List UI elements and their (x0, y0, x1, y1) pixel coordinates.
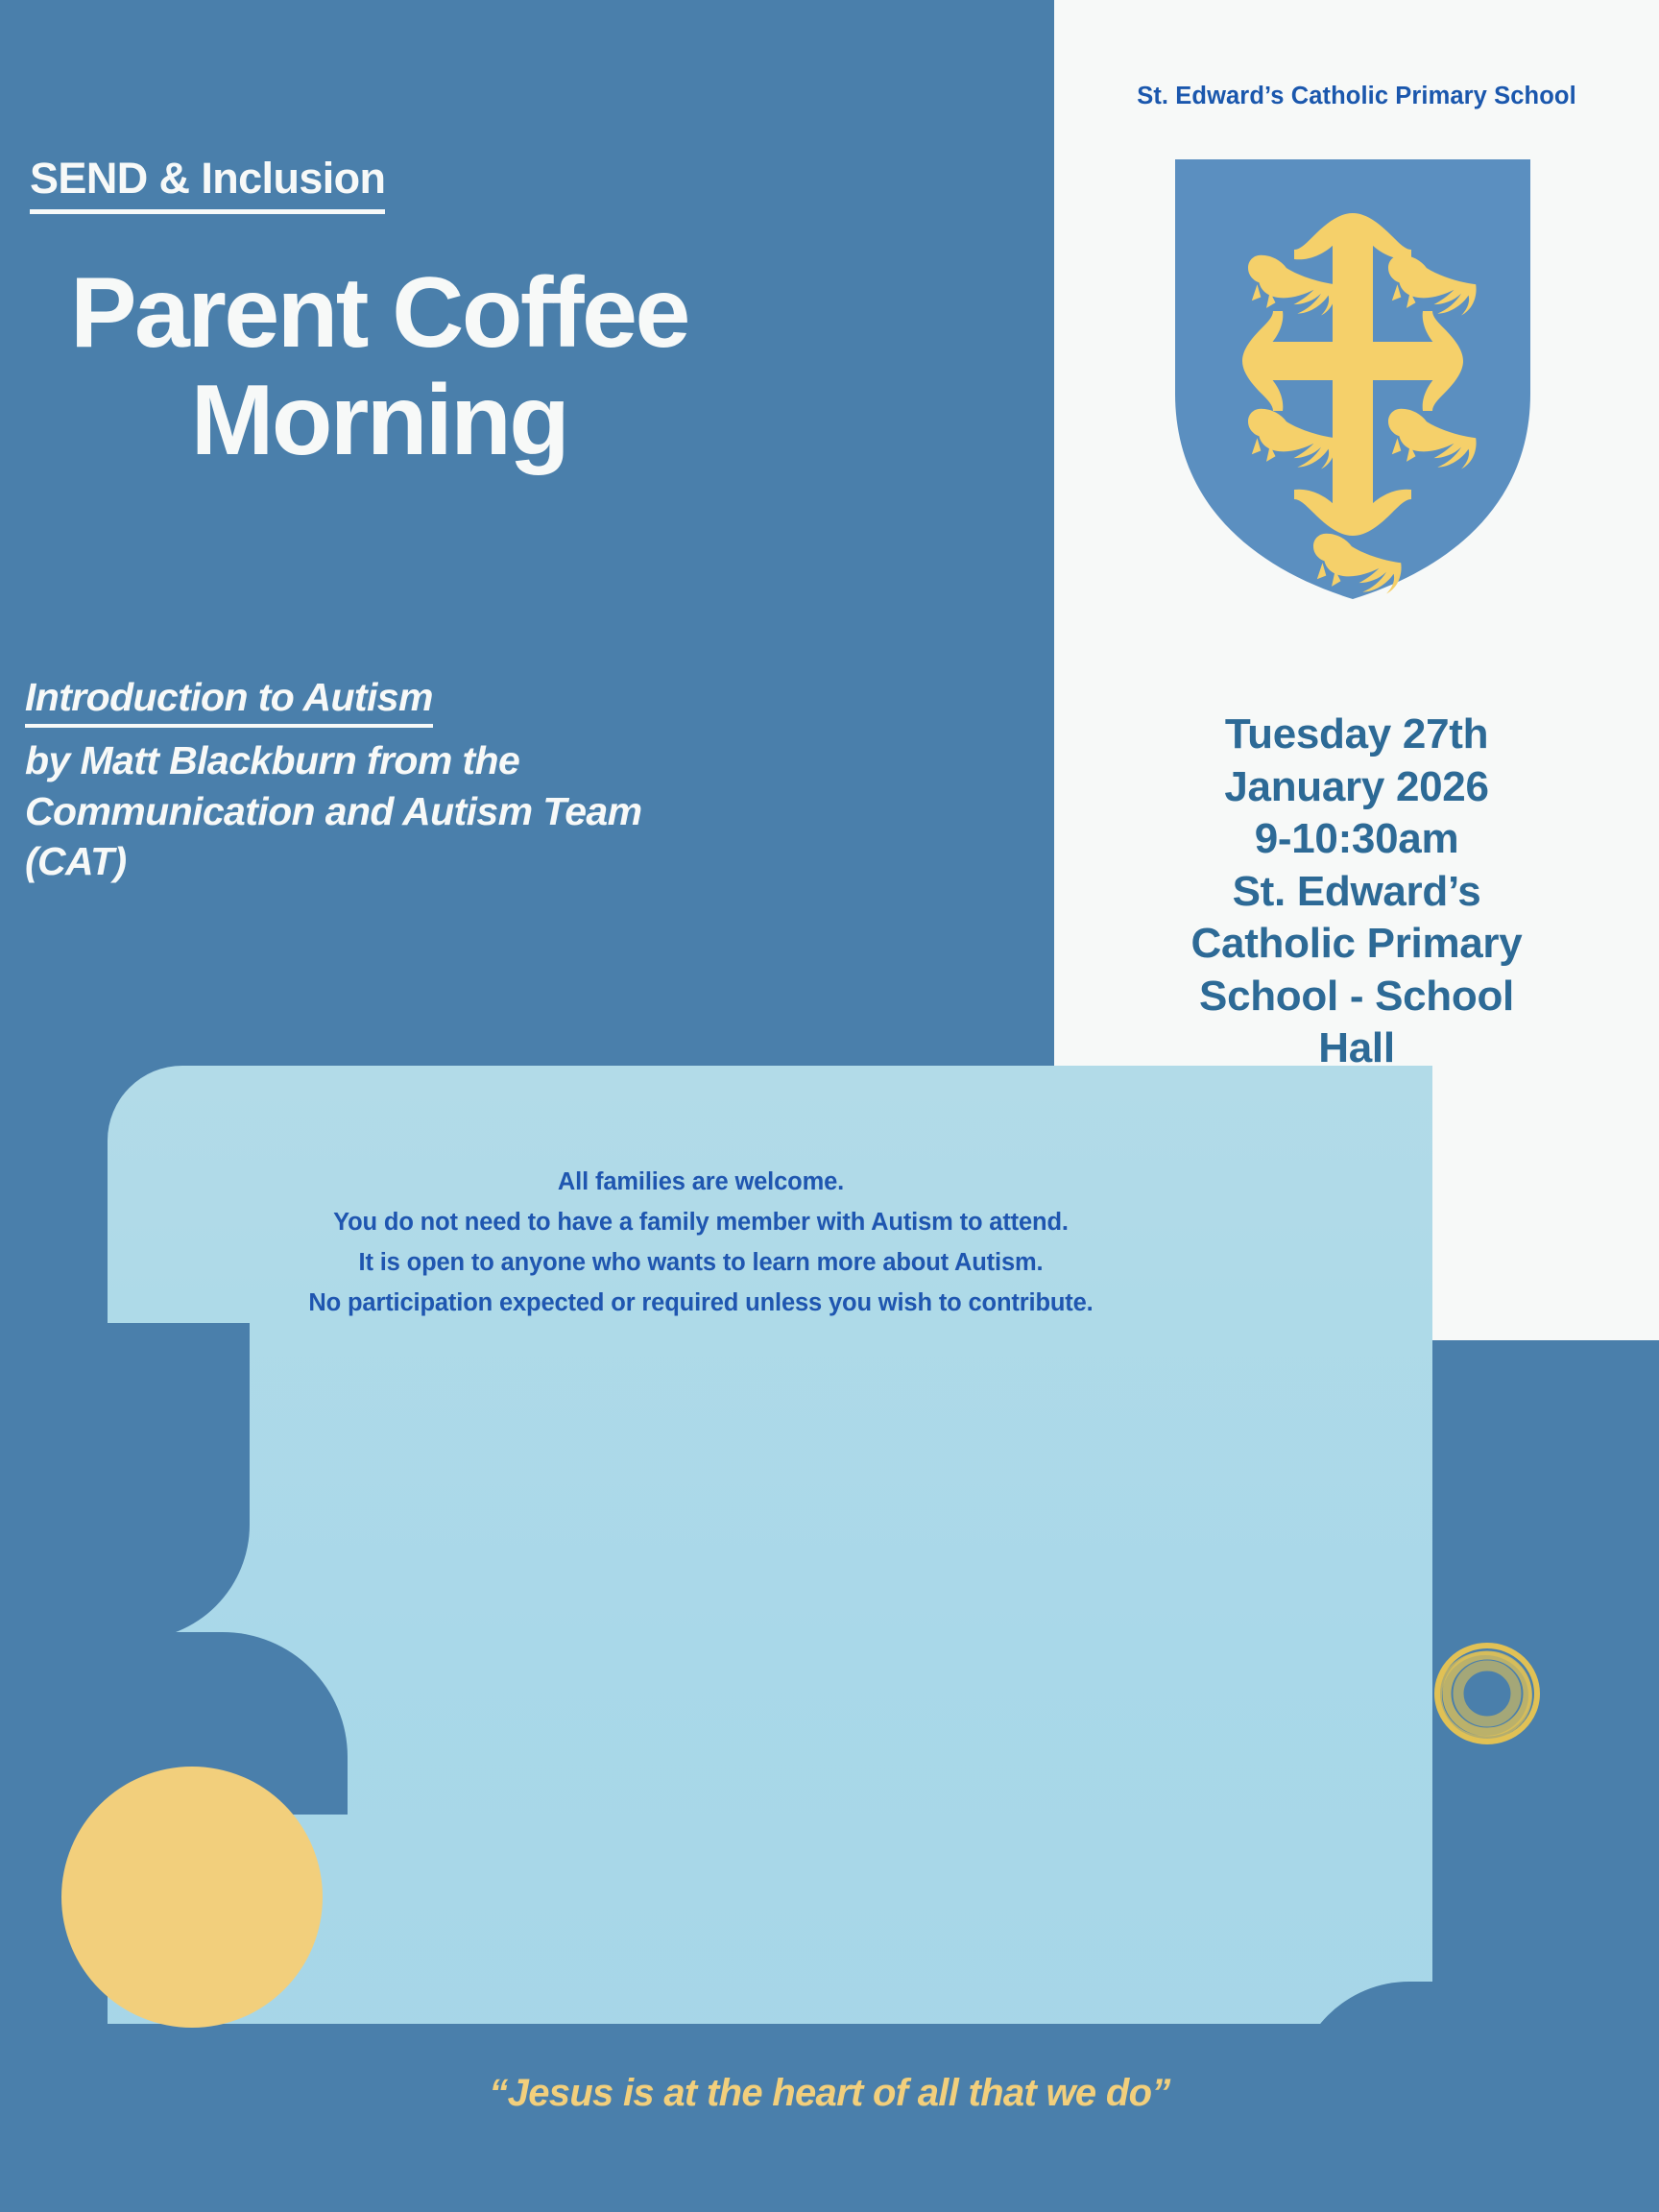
event-venue-line3: School - School (1102, 971, 1611, 1023)
photo-bottom-mask (0, 2024, 1659, 2212)
school-motto-tagline: “Jesus is at the heart of all that we do… (0, 2072, 1659, 2115)
page-title: Parent Coffee Morning (38, 259, 720, 475)
event-venue-line1: St. Edward’s (1102, 866, 1611, 919)
event-date-line2: January 2026 (1102, 761, 1611, 814)
session-detail-line1: by Matt Blackburn from the (25, 735, 755, 785)
gold-chalk-scribble-icon (1431, 1637, 1544, 1750)
event-date-line1: Tuesday 27th (1102, 709, 1611, 761)
school-shield-crest-icon (1169, 154, 1536, 605)
poster-canvas: St. Edward’s Catholic Primary School (0, 0, 1659, 2212)
welcome-notes: All families are welcome. You do not nee… (108, 1162, 1294, 1323)
eyebrow-label: SEND & Inclusion (30, 154, 385, 214)
session-detail-line2: Communication and Autism Team (25, 786, 755, 836)
session-description: Introduction to Autism by Matt Blackburn… (25, 672, 755, 887)
welcome-line1: All families are welcome. (108, 1162, 1294, 1202)
welcome-line3: It is open to anyone who wants to learn … (108, 1242, 1294, 1283)
page-title-line1: Parent Coffee (38, 259, 720, 367)
welcome-line4: No participation expected or required un… (108, 1283, 1294, 1323)
event-venue-line2: Catholic Primary (1102, 918, 1611, 971)
event-time: 9-10:30am (1102, 813, 1611, 866)
session-heading: Introduction to Autism (25, 672, 433, 728)
welcome-line2: You do not need to have a family member … (108, 1202, 1294, 1242)
school-name-heading: St. Edward’s Catholic Primary School (1054, 83, 1659, 110)
session-detail-line3: (CAT) (25, 836, 755, 886)
event-details-block: Tuesday 27th January 2026 9-10:30am St. … (1102, 709, 1611, 1075)
yellow-circle-decoration (61, 1767, 323, 2028)
page-title-line2: Morning (38, 367, 720, 474)
